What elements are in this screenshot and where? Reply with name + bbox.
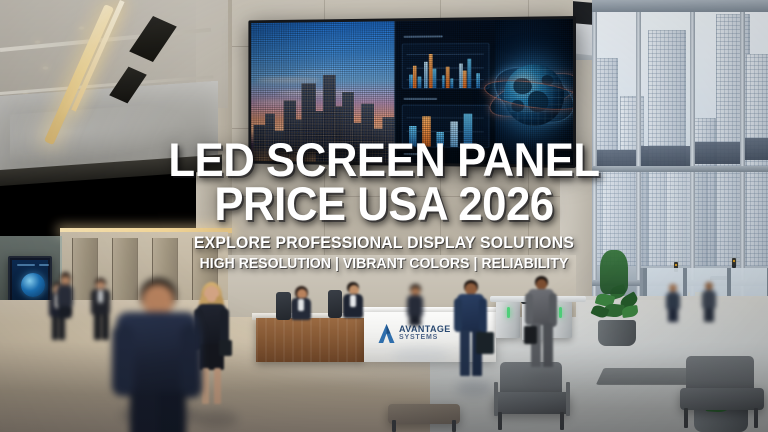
office-chair [276, 292, 291, 320]
office-chair [328, 290, 342, 318]
reception-desk-wood [256, 318, 364, 362]
person-foreground [108, 278, 204, 432]
security-turnstile[interactable] [496, 300, 520, 338]
person-outside [664, 284, 682, 322]
avantage-a-mark-icon [378, 324, 395, 343]
person-outside [700, 282, 718, 322]
person-distant [404, 284, 426, 324]
subtitle-line-1: EXPLORE PROFESSIONAL DISPLAY SOLUTIONS [15, 234, 752, 253]
logo-primary-text: AVANTAGE [399, 325, 451, 334]
person-seated-reception [288, 286, 314, 320]
person-walking [452, 280, 490, 392]
headline-line-1: LED SCREEN PANEL [27, 138, 741, 181]
lobby-hero-banner: AVANTAGE SYSTEMS [0, 0, 768, 432]
hero-text-block: LED SCREEN PANEL PRICE USA 2026 EXPLORE … [0, 138, 768, 272]
subtitle-line-2: HIGH RESOLUTION | VIBRANT COLORS | RELIA… [15, 256, 752, 272]
person-walking [524, 276, 560, 380]
kiosk-globe-icon [21, 273, 45, 297]
person-near-kiosk [54, 272, 76, 318]
logo-secondary-text: SYSTEMS [399, 334, 451, 341]
headline-line-2: PRICE USA 2026 [27, 182, 741, 225]
person-seated-reception [340, 282, 366, 318]
